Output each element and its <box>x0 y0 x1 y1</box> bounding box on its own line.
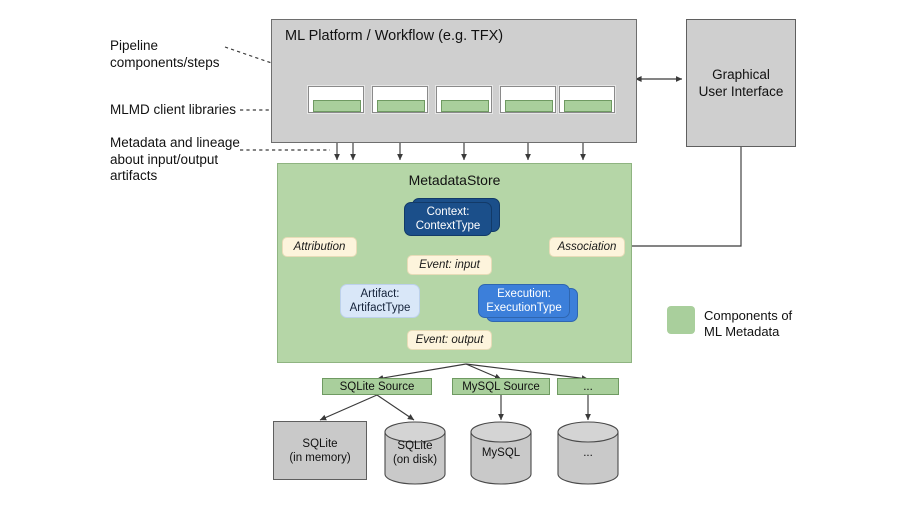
context-label-line1: Context: <box>427 205 470 219</box>
artifact-label-line2: ArtifactType <box>350 301 411 315</box>
db-sqlite-in-memory[interactable]: SQLite (in memory) <box>273 421 367 480</box>
mlmd-client-bar-3 <box>441 100 489 112</box>
legend-swatch-ml-metadata <box>667 306 695 334</box>
mlmd-client-bar-2 <box>377 100 425 112</box>
arrow-store-other-source <box>466 364 588 379</box>
artifact-label-line1: Artifact: <box>361 287 400 301</box>
ml-platform-title: ML Platform / Workflow (e.g. TFX) <box>285 28 503 44</box>
gui-label-line2: User Interface <box>699 83 784 100</box>
annotation-pipeline-line1: Pipeline <box>110 38 235 55</box>
db-mysql[interactable]: MySQL <box>470 421 532 485</box>
mlmd-client-bar-5 <box>564 100 612 112</box>
arrow-store-mysql-source <box>466 364 501 379</box>
annotation-metadata-lineage: Metadata and lineage about input/output … <box>110 135 250 185</box>
db-sqlite-memory-line1: SQLite <box>302 437 337 451</box>
db-sqlite-memory-line2: (in memory) <box>289 451 350 465</box>
arrow-sqlitesource-ondisk <box>377 395 414 420</box>
db-other-line1: ... <box>557 446 619 460</box>
legend-line2: ML Metadata <box>704 324 824 340</box>
annotation-mlmd-client-libraries: MLMD client libraries <box>110 102 245 119</box>
db-mysql-line1: MySQL <box>470 446 532 460</box>
execution-label-line1: Execution: <box>497 287 551 301</box>
legend-label: Components of ML Metadata <box>704 308 824 340</box>
annotation-mlmd-line1: MLMD client libraries <box>110 102 245 119</box>
mysql-source-box[interactable]: MySQL Source <box>452 378 550 395</box>
legend-line1: Components of <box>704 308 824 324</box>
context-node[interactable]: Context: ContextType <box>404 202 492 236</box>
diagram-canvas: Pipeline components/steps MLMD client li… <box>0 0 900 506</box>
annotation-lineage-line3: artifacts <box>110 168 250 185</box>
attribution-relation[interactable]: Attribution <box>282 237 357 257</box>
annotation-lineage-line2: about input/output <box>110 152 250 169</box>
execution-node[interactable]: Execution: ExecutionType <box>478 284 570 318</box>
association-relation[interactable]: Association <box>549 237 625 257</box>
gui-label-line1: Graphical <box>712 66 770 83</box>
artifact-node[interactable]: Artifact: ArtifactType <box>340 284 420 318</box>
annotation-pipeline-components: Pipeline components/steps <box>110 38 235 71</box>
db-other-labels: ... <box>557 446 619 460</box>
mlmd-client-bar-4 <box>505 100 553 112</box>
execution-label-line2: ExecutionType <box>486 301 561 315</box>
db-sqlite-disk-line2: (on disk) <box>384 453 446 467</box>
event-output-relation[interactable]: Event: output <box>407 330 492 350</box>
arrow-store-sqlite-source <box>377 364 466 379</box>
event-input-relation[interactable]: Event: input <box>407 255 492 275</box>
db-mysql-labels: MySQL <box>470 446 532 460</box>
context-label-line2: ContextType <box>416 219 481 233</box>
other-source-box[interactable]: ... <box>557 378 619 395</box>
metadata-store-title: MetadataStore <box>277 172 632 188</box>
db-sqlite-on-disk[interactable]: SQLite (on disk) <box>384 421 446 485</box>
sqlite-source-box[interactable]: SQLite Source <box>322 378 432 395</box>
annotation-pipeline-line2: components/steps <box>110 55 235 72</box>
arrow-sqlitesource-inmemory <box>320 395 377 420</box>
db-other[interactable]: ... <box>557 421 619 485</box>
graphical-user-interface-box[interactable]: Graphical User Interface <box>686 19 796 147</box>
db-sqlite-disk-labels: SQLite (on disk) <box>384 439 446 467</box>
mlmd-client-bar-1 <box>313 100 361 112</box>
annotation-lineage-line1: Metadata and lineage <box>110 135 250 152</box>
db-sqlite-disk-line1: SQLite <box>384 439 446 453</box>
